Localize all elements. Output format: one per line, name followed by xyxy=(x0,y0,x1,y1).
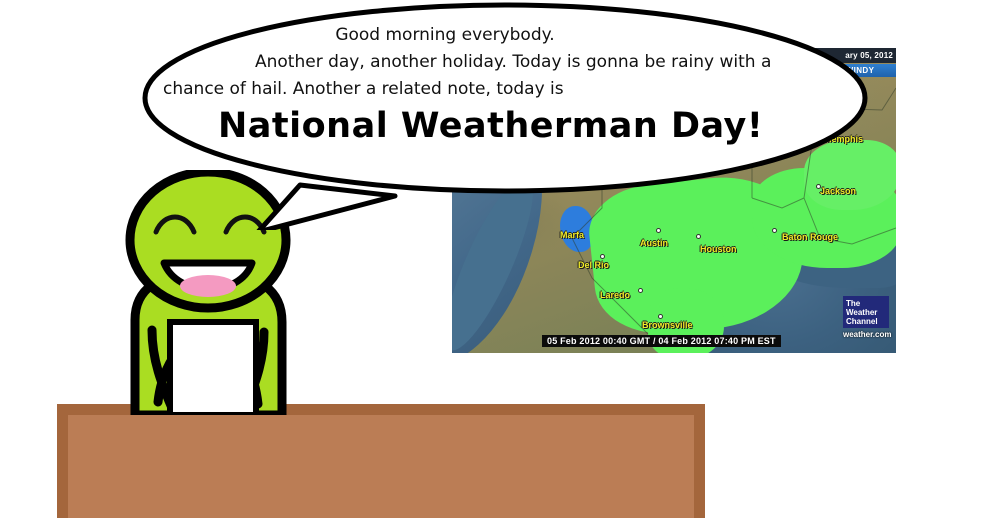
speech-bubble-tail xyxy=(258,185,395,230)
speech-bubble: Good morning everybody. Another day, ano… xyxy=(140,0,870,230)
map-city-dot-icon xyxy=(638,288,643,293)
map-city-label: Houston xyxy=(700,244,737,254)
speech-bubble-text: Good morning everybody. Another day, ano… xyxy=(160,22,860,149)
map-city-label: Brownsville xyxy=(642,320,693,330)
logo-line-1: The xyxy=(846,299,886,308)
weather-channel-logo: The Weather Channel weather.com xyxy=(843,296,889,339)
speech-line-2: Another day, another holiday. Today is g… xyxy=(160,49,860,76)
map-city-label: Baton Rouge xyxy=(782,232,838,242)
logo-line-2: Weather xyxy=(846,308,886,317)
map-timestamp: 05 Feb 2012 00:40 GMT / 04 Feb 2012 07:4… xyxy=(542,335,781,347)
map-city-dot-icon xyxy=(696,234,701,239)
scene-canvas: Midland Memphis Jackson Marfa Austin Hou… xyxy=(0,0,996,518)
speech-headline: National Weatherman Day! xyxy=(160,103,860,149)
map-city-dot-icon xyxy=(600,254,605,259)
map-city-label: Marfa xyxy=(560,230,584,240)
map-city-label: Laredo xyxy=(600,290,630,300)
speech-line-3: chance of hail. Another a related note, … xyxy=(160,76,860,103)
podium xyxy=(57,404,705,518)
speech-line-1: Good morning everybody. xyxy=(160,22,860,49)
character-paper xyxy=(170,322,256,415)
map-city-label: Austin xyxy=(640,238,668,248)
weather-channel-logo-box: The Weather Channel xyxy=(843,296,889,328)
weather-channel-url: weather.com xyxy=(843,330,889,339)
map-city-label: Del Rio xyxy=(578,260,609,270)
map-city-dot-icon xyxy=(658,314,663,319)
character-tongue xyxy=(180,275,236,297)
logo-line-3: Channel xyxy=(846,317,886,326)
